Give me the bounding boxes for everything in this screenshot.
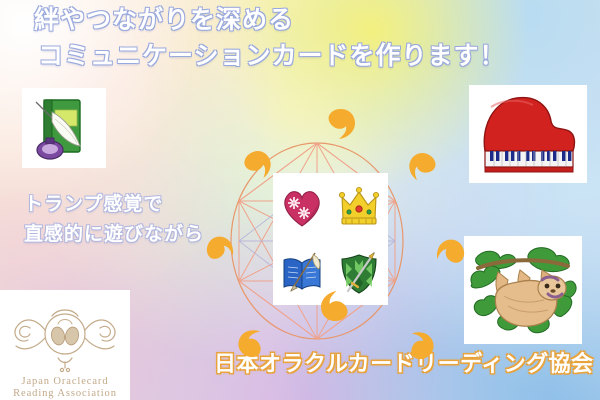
photo-sloth (464, 236, 582, 344)
book-quill-ink-icon (22, 88, 106, 168)
headline-line-2: コミュニケーションカードを作ります！ (34, 38, 506, 74)
mandala-card-crown (331, 173, 389, 239)
association-name: 日本オラクルカードリーディング協会 (214, 346, 594, 378)
mandala-card-grid (273, 173, 388, 305)
subcopy: トランプ感覚で 直感的に遊びながら (24, 190, 204, 250)
logo-line-1: Japan Oraclecard (22, 376, 109, 387)
sloth-icon (464, 236, 582, 344)
red-piano-icon (469, 85, 587, 183)
photo-book-quill-ink (22, 88, 106, 168)
headline-line-1: 絆やつながりを深める (34, 2, 506, 38)
promo-poster: 絆やつながりを深める コミュニケーションカードを作ります！ トランプ感覚で 直感… (0, 0, 600, 400)
association-logo: Japan Oraclecard Reading Association (0, 290, 130, 400)
heart-card-icon (279, 181, 325, 231)
logo-line-2: Reading Association (13, 388, 117, 399)
logo-birds-icon: Japan Oraclecard Reading Association (0, 290, 130, 400)
subcopy-line-2: 直感的に遊びながら (24, 220, 204, 250)
photo-red-piano (469, 85, 587, 183)
mandala-card-heart (273, 173, 331, 239)
book-quill-card-icon (279, 247, 325, 297)
headline: 絆やつながりを深める コミュニケーションカードを作ります！ (34, 2, 506, 74)
crown-card-icon (336, 181, 382, 231)
subcopy-line-1: トランプ感覚で (24, 190, 204, 220)
